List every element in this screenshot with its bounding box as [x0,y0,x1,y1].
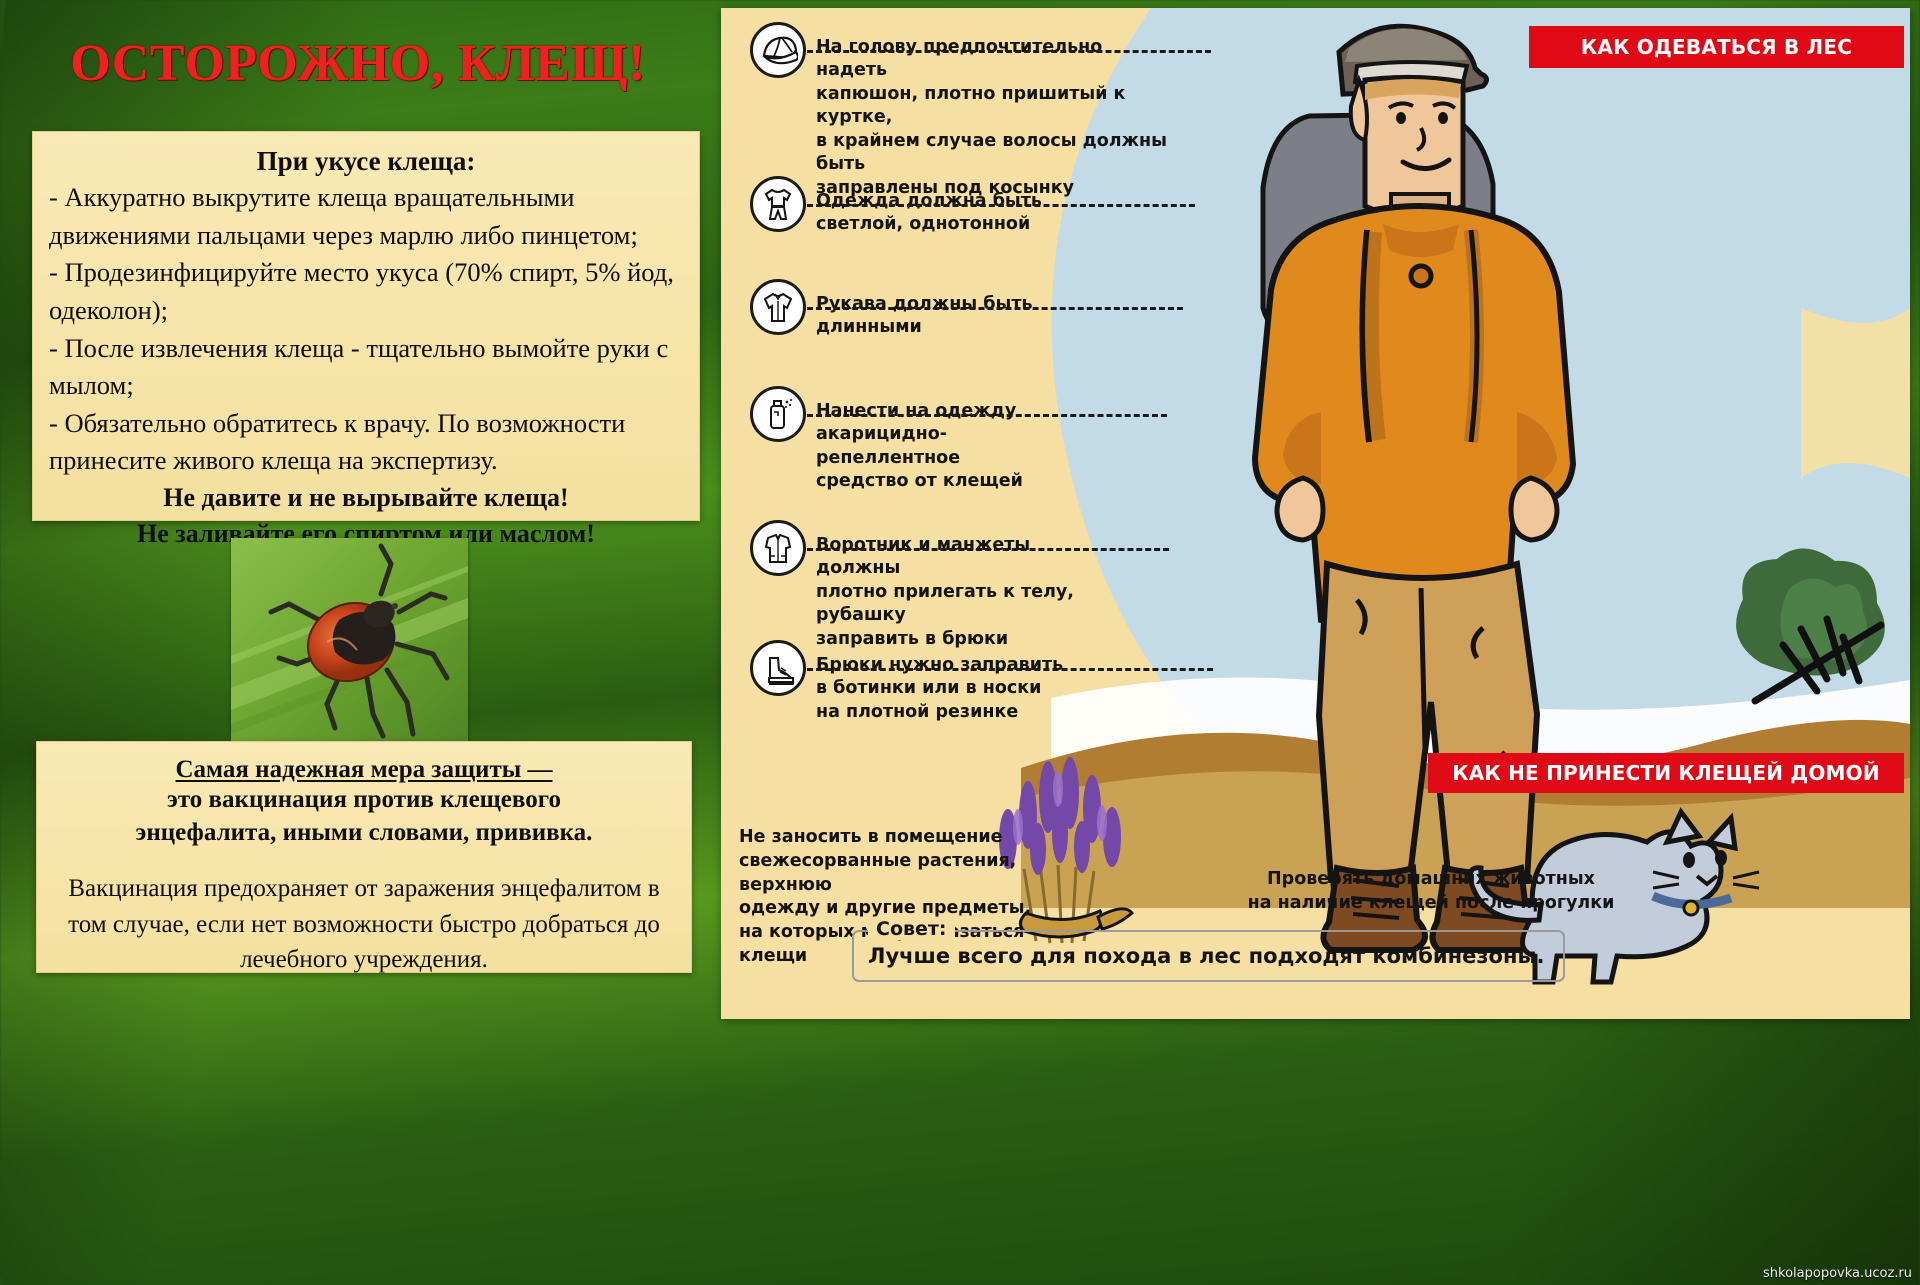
leader-line-5 [807,548,1169,551]
bite-instruction-3: - После извлечения клеща - тщательно вым… [49,330,683,405]
tip-tuck-trousers-text: Брюки нужно заправить в ботинки или в но… [816,654,1063,724]
bite-instruction-1: - Аккуратно выкрутите клеща вращательным… [49,179,683,254]
clothes-icon [750,176,806,232]
tick-photograph [231,538,468,751]
bite-instruction-4: - Обязательно обратитесь к врачу. По воз… [49,405,683,480]
tip-light-clothing-text: Одежда должна быть светлой, однотонной [816,190,1042,237]
tip-headwear: На голову предпочтительно надеть капюшон… [750,22,1170,200]
vaccination-box: Самая надежная мера защиты — это вакцина… [36,741,692,973]
spray-can-icon [750,386,806,442]
boot-icon [750,640,806,696]
advice-box: Совет: Лучше всего для похода в лес подх… [852,930,1565,982]
advice-text: Лучше всего для похода в лес подходят ко… [868,944,1544,968]
banner-how-to-dress: КАК ОДЕВАТЬСЯ В ЛЕС [1529,26,1904,68]
tip-repellent: Нанести на одежду акарицидно-репеллентно… [750,386,1090,494]
vaccination-heading-line-2: это вакцинация против клещевого [59,784,669,817]
tip-long-sleeves-text: Рукава должны быть длинными [816,293,1033,340]
dressing-infographic-panel: КАК ОДЕВАТЬСЯ В ЛЕС КАК НЕ ПРИНЕСТИ КЛЕЩ… [721,8,1910,1019]
vaccination-heading-line-3: энцефалита, иными словами, прививка. [59,817,669,850]
tip-collar-cuffs: Воротник и манжеты должны плотно прилега… [750,520,1120,651]
leader-line-1 [807,50,1211,53]
cap-icon [750,22,806,78]
bite-instruction-2: - Продезинфицируйте место укуса (70% спи… [49,254,683,329]
bite-box-heading: При укусе клеща: [49,146,683,177]
leader-line-4 [807,414,1167,417]
note-check-pets: Проверять домашних животных на наличие к… [1201,868,1661,916]
vaccination-body-text: Вакцинация предохраняет от заражения энц… [59,871,669,978]
advice-legend: Совет: [868,918,955,940]
vaccination-heading-line-1: Самая надежная мера защиты — [59,756,669,784]
long-sleeve-icon [750,279,806,335]
leader-line-2 [807,204,1195,207]
leader-line-6 [807,668,1213,671]
collar-cuffs-icon [750,520,806,576]
tip-tuck-trousers: Брюки нужно заправить в ботинки или в но… [750,640,1080,724]
tip-collar-cuffs-text: Воротник и манжеты должны плотно прилега… [816,534,1120,651]
bite-warning-1: Не давите и не вырывайте клеща! [49,480,683,516]
watermark: shkolapopovka.ucoz.ru [1763,1266,1912,1281]
left-column: ОСТОРОЖНО, КЛЕЩ! При укусе клеща: - Акку… [0,0,716,1285]
leader-line-3 [807,307,1183,310]
tick-bite-instructions-box: При укусе клеща: - Аккуратно выкрутите к… [32,131,700,521]
page-title: ОСТОРОЖНО, КЛЕЩ! [0,34,716,93]
banner-how-not-to-bring-ticks-home: КАК НЕ ПРИНЕСТИ КЛЕЩЕЙ ДОМОЙ [1428,753,1904,793]
